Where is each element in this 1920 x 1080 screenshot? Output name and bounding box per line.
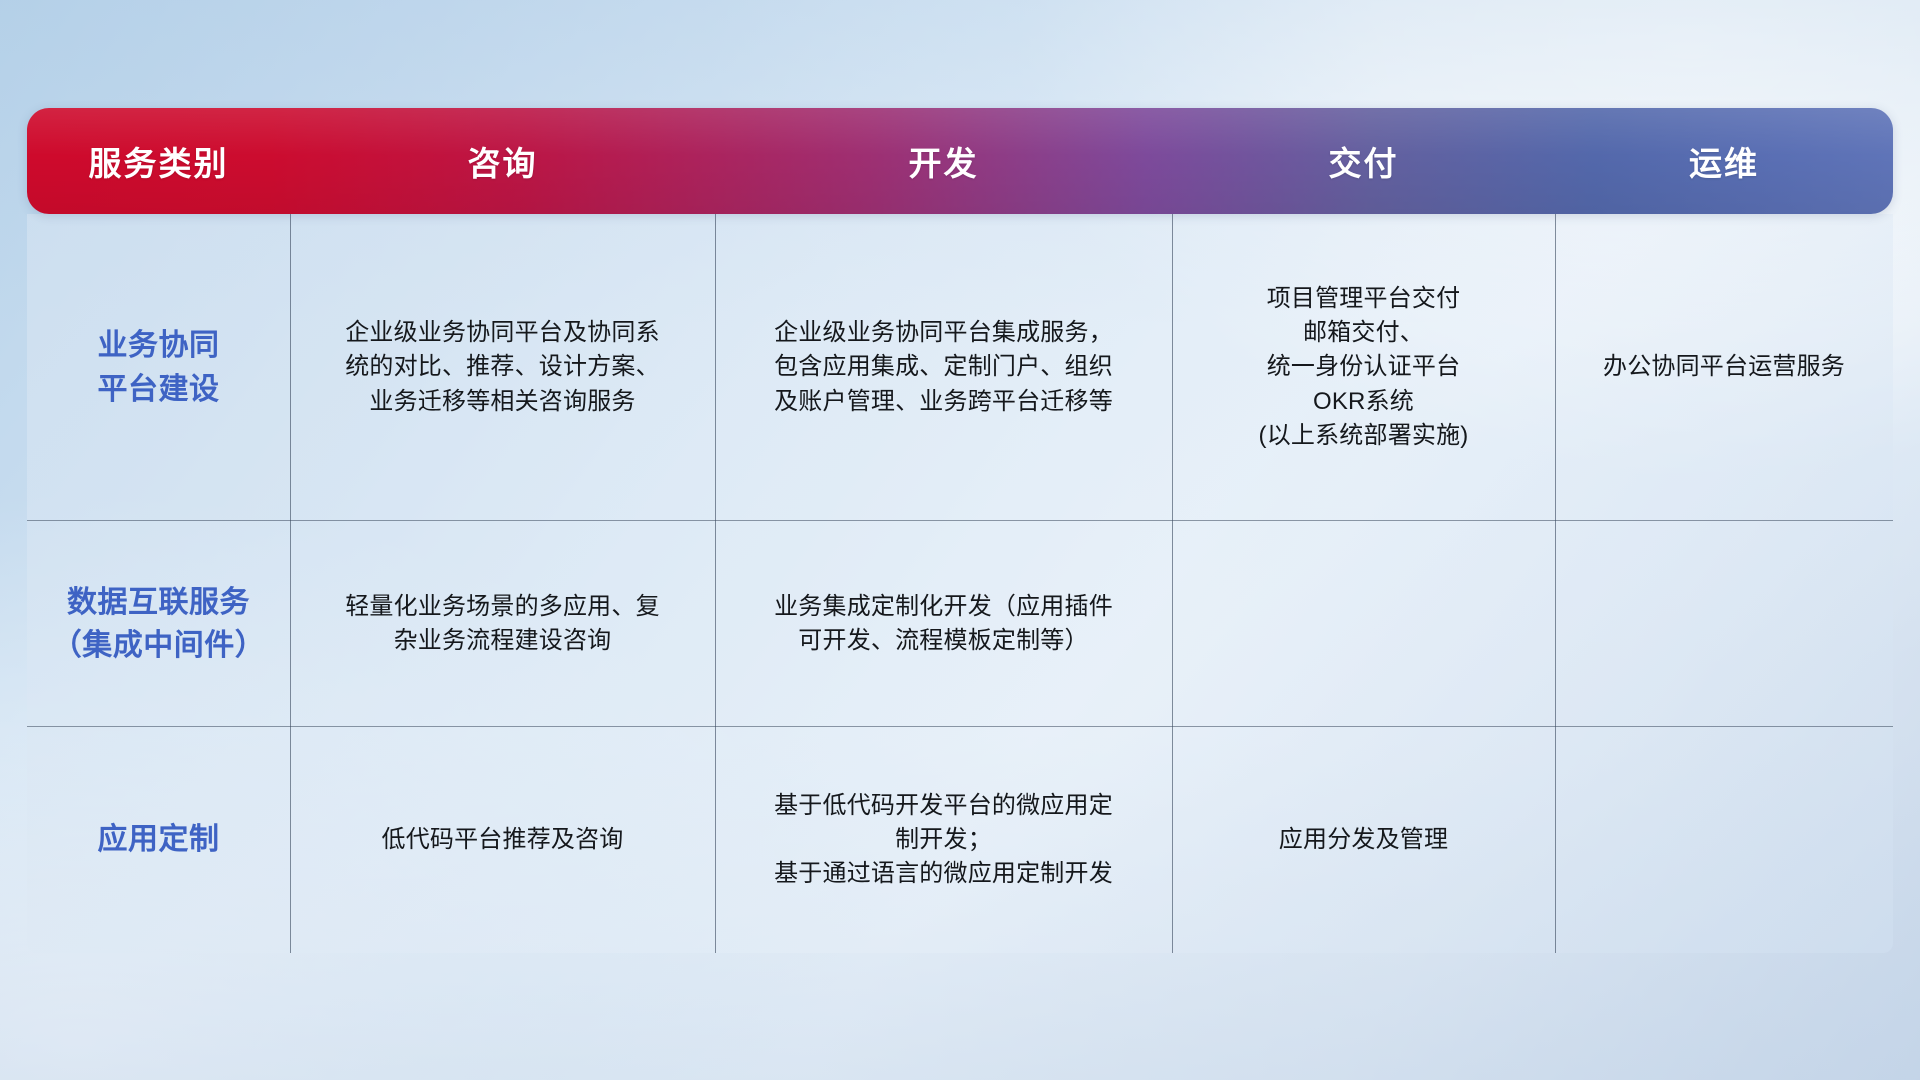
cell-consulting: 低代码平台推荐及咨询 [290, 727, 715, 953]
column-header-label: 咨询 [468, 137, 538, 185]
cell-text: 企业级业务协同平台集成服务， 包含应用集成、定制门户、组织 及账户管理、业务跨平… [774, 316, 1113, 418]
category-label: 业务协同 平台建设 [98, 324, 220, 411]
column-header-label: 服务类别 [89, 137, 229, 185]
column-header-development: 开发 [715, 108, 1172, 214]
cell-operations [1555, 521, 1893, 727]
cell-text: 基于低代码开发平台的微应用定 制开发； 基于通过语言的微应用定制开发 [774, 789, 1113, 891]
cell-development: 业务集成定制化开发（应用插件 可开发、流程模板定制等） [715, 521, 1172, 727]
table-header-row: 服务类别 咨询 开发 交付 运维 [27, 108, 1893, 214]
column-header-operations: 运维 [1555, 108, 1893, 214]
cell-text: 轻量化业务场景的多应用、复 杂业务流程建设咨询 [345, 590, 660, 658]
category-label: 数据互联服务 （集成中间件） [52, 581, 266, 668]
column-header-delivery: 交付 [1172, 108, 1555, 214]
service-category-table: 服务类别 咨询 开发 交付 运维 业务协同 平台建设 企业级业务协同平台及协同系… [27, 108, 1893, 953]
cell-development: 基于低代码开发平台的微应用定 制开发； 基于通过语言的微应用定制开发 [715, 727, 1172, 953]
cell-delivery [1172, 521, 1555, 727]
cell-consulting: 轻量化业务场景的多应用、复 杂业务流程建设咨询 [290, 521, 715, 727]
cell-text: 办公协同平台运营服务 [1603, 350, 1845, 384]
cell-consulting: 企业级业务协同平台及协同系 统的对比、推荐、设计方案、 业务迁移等相关咨询服务 [290, 214, 715, 521]
column-header-label: 运维 [1689, 137, 1759, 185]
cell-delivery: 项目管理平台交付 邮箱交付、 统一身份认证平台 OKR系统 (以上系统部署实施) [1172, 214, 1555, 521]
table-row: 数据互联服务 （集成中间件） 轻量化业务场景的多应用、复 杂业务流程建设咨询 业… [27, 521, 1893, 727]
cell-development: 企业级业务协同平台集成服务， 包含应用集成、定制门户、组织 及账户管理、业务跨平… [715, 214, 1172, 521]
cell-category: 应用定制 [27, 727, 290, 953]
cell-text: 业务集成定制化开发（应用插件 可开发、流程模板定制等） [774, 590, 1113, 658]
column-header-label: 开发 [909, 137, 979, 185]
cell-operations: 办公协同平台运营服务 [1555, 214, 1893, 521]
table-body: 业务协同 平台建设 企业级业务协同平台及协同系 统的对比、推荐、设计方案、 业务… [27, 214, 1893, 953]
table-row: 业务协同 平台建设 企业级业务协同平台及协同系 统的对比、推荐、设计方案、 业务… [27, 214, 1893, 521]
column-header-consulting: 咨询 [290, 108, 715, 214]
category-label: 应用定制 [98, 818, 220, 862]
cell-delivery: 应用分发及管理 [1172, 727, 1555, 953]
cell-category: 业务协同 平台建设 [27, 214, 290, 521]
column-header-label: 交付 [1329, 137, 1399, 185]
cell-text: 低代码平台推荐及咨询 [382, 823, 624, 857]
cell-operations [1555, 727, 1893, 953]
cell-text: 项目管理平台交付 邮箱交付、 统一身份认证平台 OKR系统 (以上系统部署实施) [1259, 282, 1469, 452]
cell-text: 企业级业务协同平台及协同系 统的对比、推荐、设计方案、 业务迁移等相关咨询服务 [345, 316, 660, 418]
cell-text: 应用分发及管理 [1279, 823, 1448, 857]
column-header-category: 服务类别 [27, 108, 290, 214]
table-row: 应用定制 低代码平台推荐及咨询 基于低代码开发平台的微应用定 制开发； 基于通过… [27, 727, 1893, 953]
cell-category: 数据互联服务 （集成中间件） [27, 521, 290, 727]
